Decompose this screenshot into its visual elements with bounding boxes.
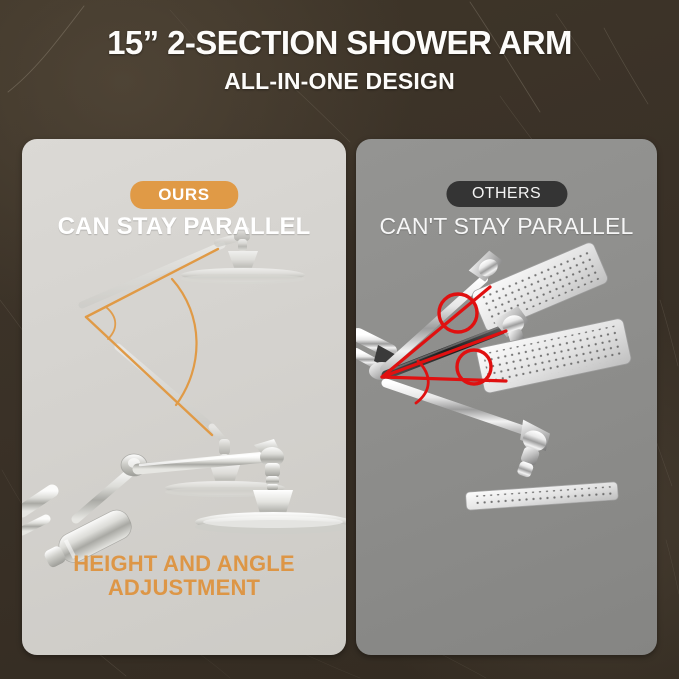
page-subtitle: ALL-IN-ONE DESIGN [0,59,679,93]
caption-ours: HEIGHT AND ANGLE ADJUSTMENT [22,552,346,601]
header: 15” 2-SECTION SHOWER ARM ALL-IN-ONE DESI… [0,0,679,93]
arm-position-down-tilted [386,383,618,510]
arm-position-middle-tilted [386,304,632,394]
panel-ours: OURS CAN STAY PARALLEL HEIGHT AND ANGLE … [22,139,346,655]
badge-ours: OURS [130,181,238,209]
claim-ours: CAN STAY PARALLEL [22,213,346,241]
caption-line-2: ADJUSTMENT [22,576,346,601]
badge-others: OTHERS [446,181,567,207]
caption-line-1: HEIGHT AND ANGLE [22,552,346,577]
shower-head-tilted-down [465,482,618,511]
page-title: 15” 2-SECTION SHOWER ARM [0,0,679,59]
infographic-canvas: 15” 2-SECTION SHOWER ARM ALL-IN-ONE DESI… [0,0,679,679]
panel-others: OTHERS CAN'T STAY PARALLEL [356,139,657,655]
claim-others: CAN'T STAY PARALLEL [356,213,657,240]
